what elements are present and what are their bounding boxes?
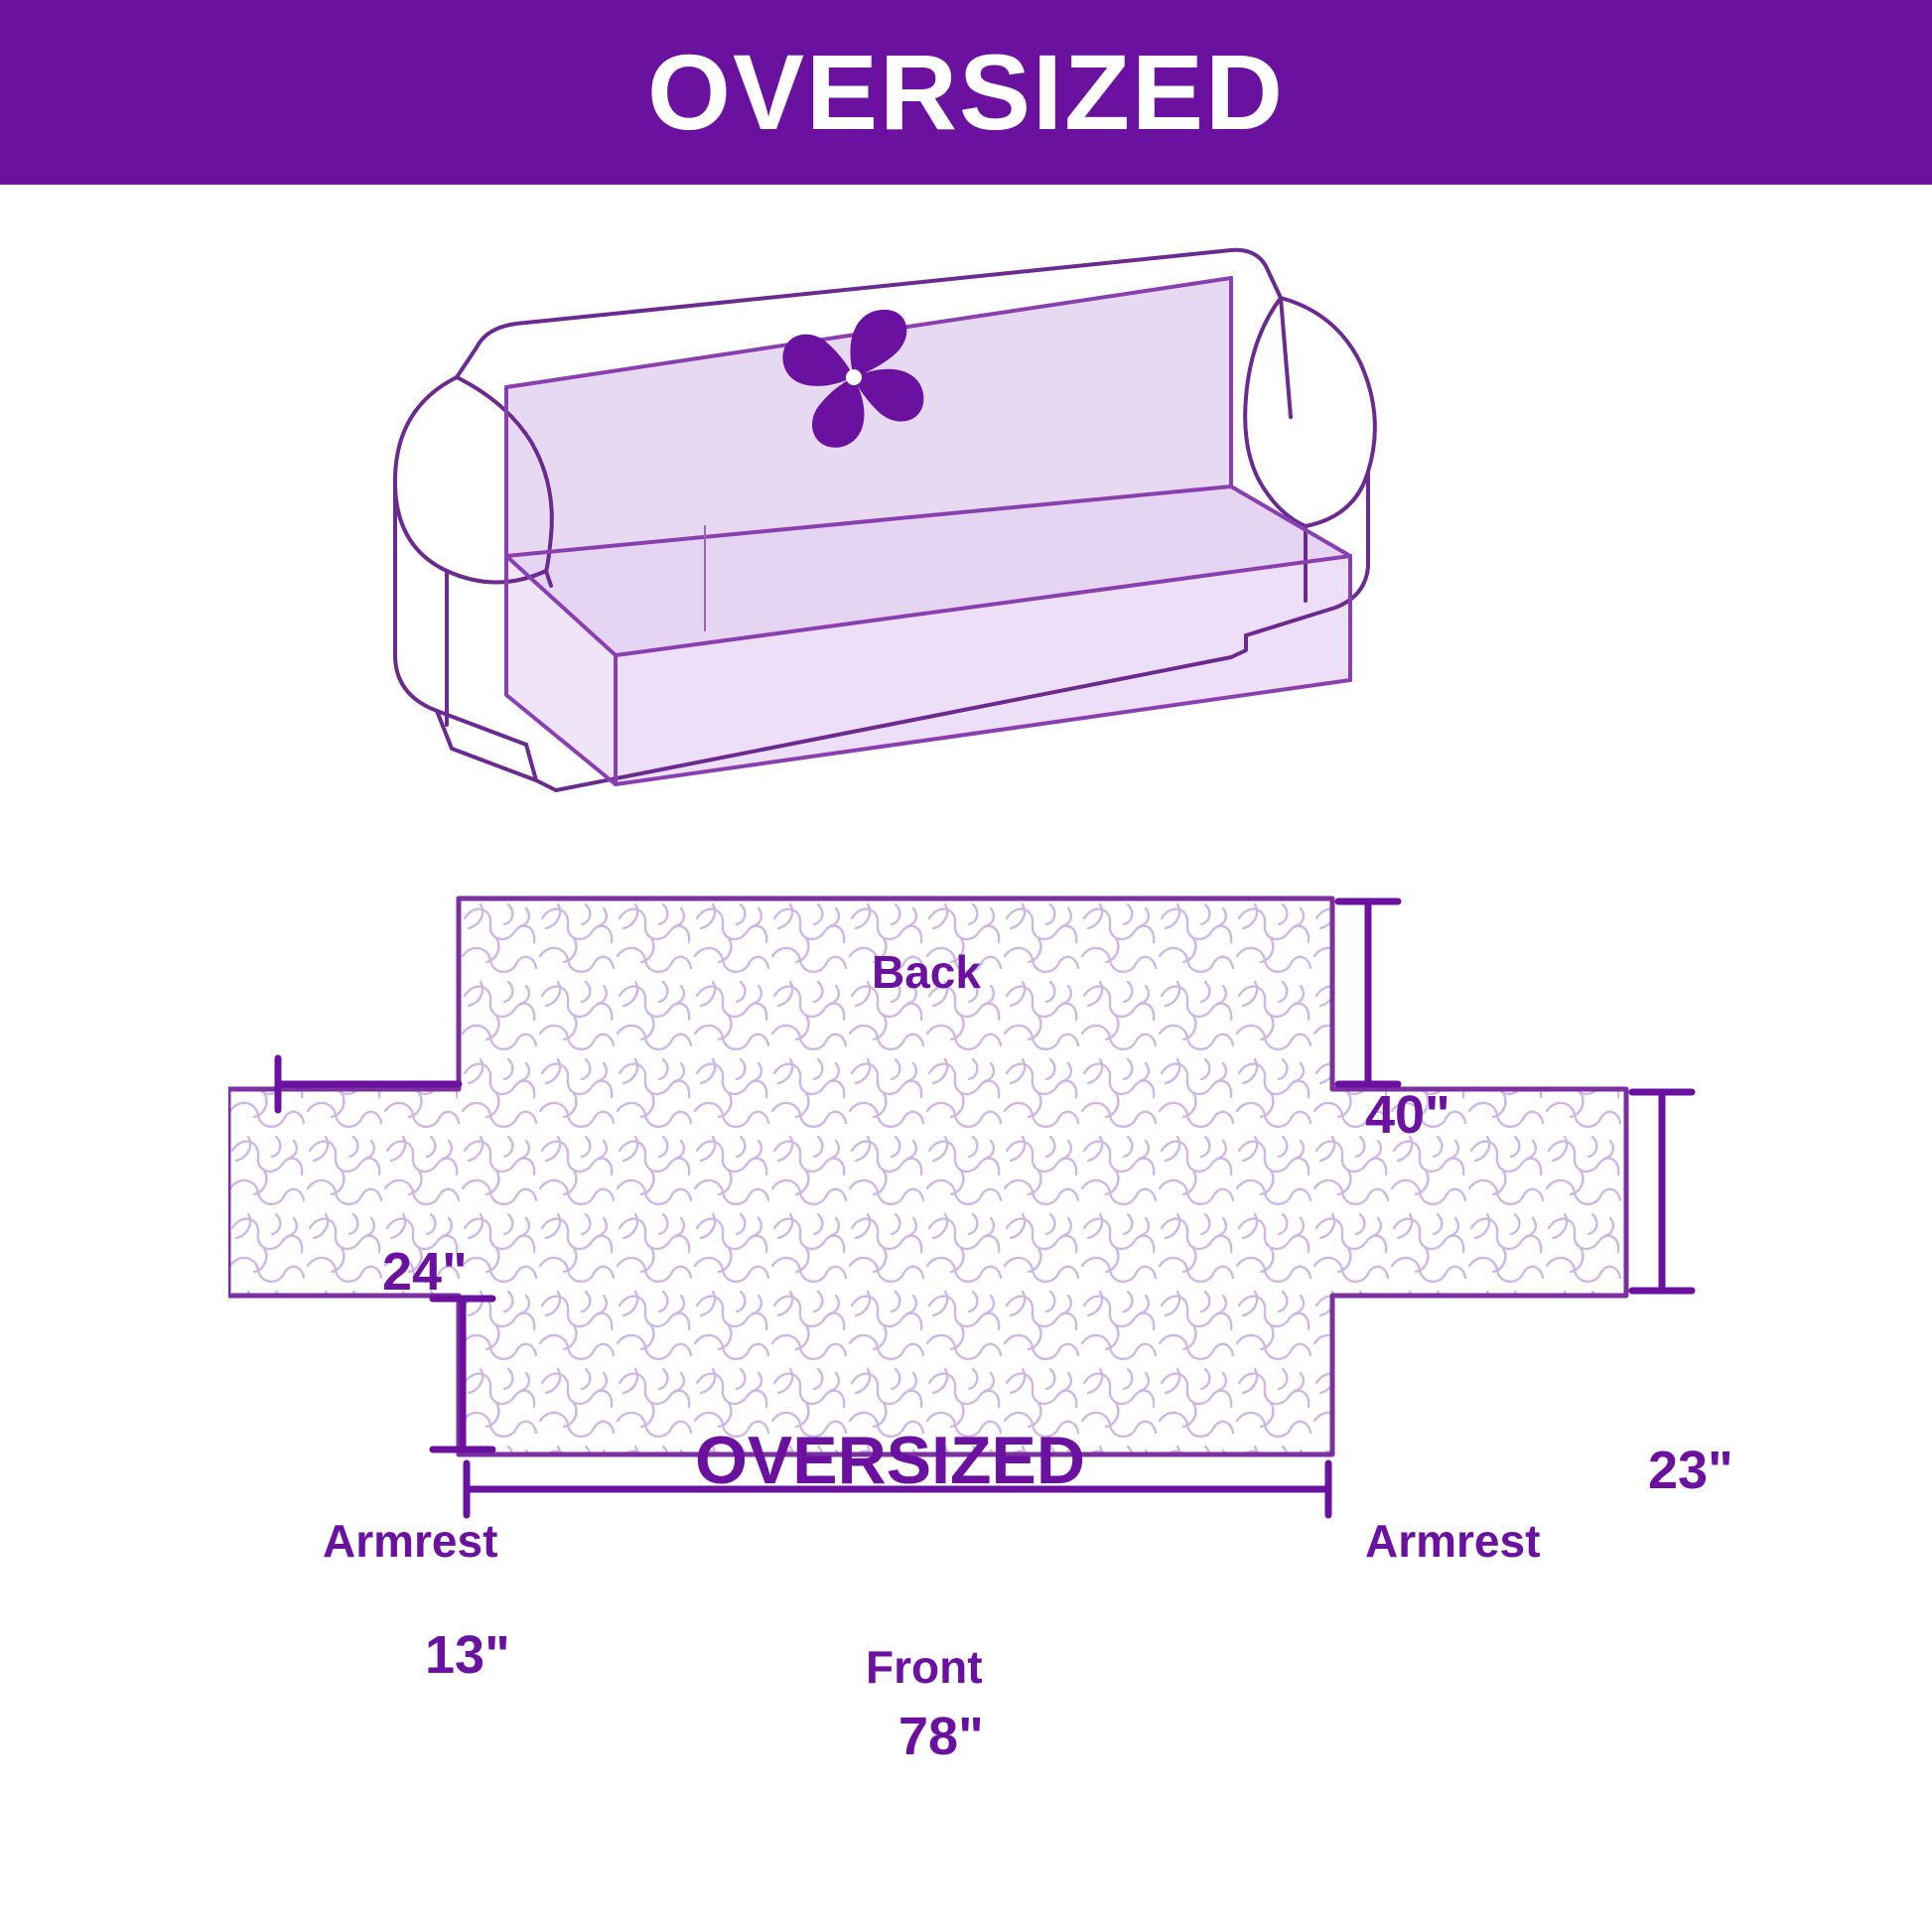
- dimension-armrest-height: 23": [1648, 1440, 1733, 1501]
- header-banner: OVERSIZED: [0, 0, 1932, 185]
- page-title: OVERSIZED: [647, 39, 1285, 146]
- label-back: Back: [872, 945, 981, 999]
- label-armrest-left: Armrest: [323, 1514, 497, 1568]
- label-front: Front: [866, 1640, 983, 1694]
- dimension-back-height: 40": [1365, 1084, 1450, 1146]
- dimension-total-width: 78": [898, 1706, 984, 1767]
- dimension-back-width-left: 24": [382, 1241, 468, 1303]
- sofa-illustration: [357, 228, 1588, 824]
- product-size-chart: OVERSIZED: [0, 0, 1932, 1932]
- dimension-front-skirt: 13": [425, 1624, 510, 1686]
- label-oversized-center: OVERSIZED: [695, 1422, 1085, 1499]
- label-armrest-right: Armrest: [1365, 1514, 1540, 1568]
